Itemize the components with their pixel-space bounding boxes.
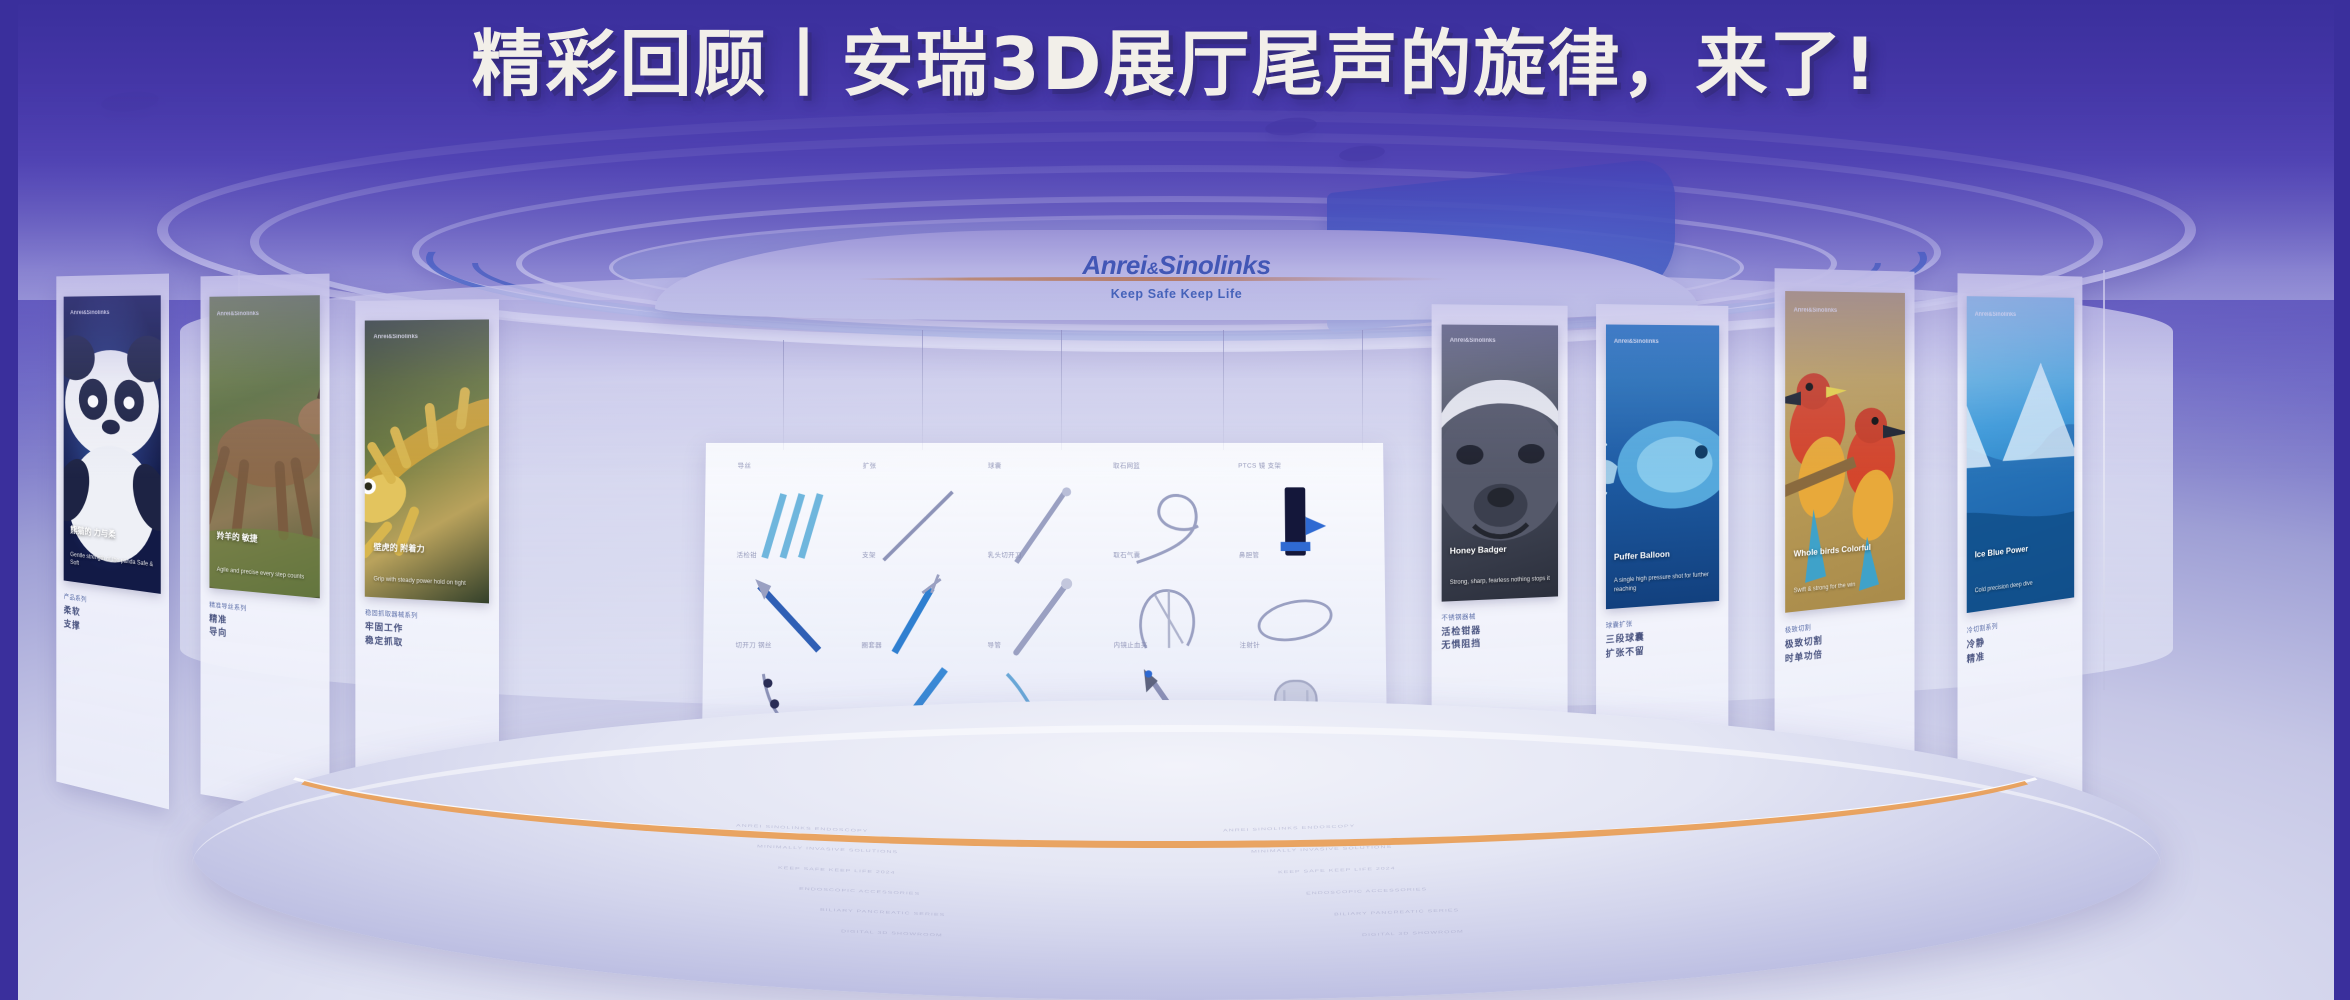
poster-brand: Anrei&Sinolinks [1613,339,1658,345]
poster-brand: Anrei&Sinolinks [217,311,259,317]
left-edge-band [0,0,18,1000]
product-device-icon [1123,480,1215,534]
hanging-wire [783,340,784,450]
brand-tagline: Keep Safe Keep Life [655,288,1698,301]
product-cell-label: 取石气囊 [1113,549,1140,559]
product-device-icon [746,570,838,625]
product-device-icon [997,570,1089,625]
brand-name-main: Anrei [1082,250,1146,280]
poster-artwork: Anrei&Sinolinks羚羊的 敏捷Agile and precise e… [209,295,320,598]
product-cell[interactable]: 取石网篮 [1108,458,1232,545]
product-cell[interactable]: 扩张 [857,458,981,545]
product-device-icon [1249,570,1341,625]
product-device-icon [1248,480,1340,534]
product-device-icon [872,480,964,534]
wall-seam-right [2103,270,2105,690]
product-cell[interactable]: 导丝 [732,458,856,545]
brand-swoosh-icon [853,277,1499,281]
showroom-scene: Anrei&Sinolinks Keep Safe Keep Life 导丝扩张… [18,0,2335,1000]
product-cell[interactable]: 乳头切开刀 [982,547,1106,635]
brand-name: Anrei&Sinolinks [655,252,1698,278]
product-cell-label: 球囊 [988,459,1002,469]
product-device-icon [1123,570,1215,625]
product-device-icon [997,480,1088,534]
poster-artwork: Anrei&SinolinksWhole birds ColorfulSwift… [1785,291,1905,612]
poster-brand: Anrei&Sinolinks [1793,308,1836,314]
page-title: 精彩回顾丨安瑞3D展厅尾声的旋律，来了! [0,26,2350,104]
product-device-icon [871,570,963,625]
hanging-wire [1223,330,1224,450]
product-cell[interactable]: PTCS 镜 支架 [1233,458,1357,545]
hanging-wire [1362,330,1363,450]
hanging-wire [1061,330,1062,450]
product-cell-label: 乳头切开刀 [988,549,1022,559]
product-cell[interactable]: 取石气囊 [1108,547,1232,635]
poster-body: 产品系列柔软支撑 [64,591,161,792]
product-cell-label: 鼻胆管 [1239,549,1259,559]
product-cell[interactable]: 鼻胆管 [1234,547,1359,635]
product-device-icon [747,480,839,534]
product-cell-label: 支架 [862,549,876,559]
poster-caption: 不锈钢器械 [1442,606,1559,622]
product-cell-label: 导丝 [737,459,751,469]
poster-brand: Anrei&Sinolinks [70,310,109,316]
poster-artwork: Anrei&SinolinksHoney BadgerStrong, sharp… [1442,324,1559,602]
poster-brand: Anrei&Sinolinks [1975,312,2016,318]
product-cell-label: PTCS 镜 支架 [1238,459,1281,469]
brand-name-second: Sinolinks [1159,250,1271,280]
poster-artwork: Anrei&Sinolinks壁虎的 附着力Grip with steady p… [365,319,489,603]
poster-panel-panda[interactable]: Anrei&Sinolinks熊猫的 力与柔Gentle strength of… [56,274,168,810]
product-cell-label: 活检钳 [736,549,756,559]
poster-artwork: Anrei&SinolinksPuffer BalloonA single hi… [1605,324,1719,609]
poster-artwork: Anrei&Sinolinks熊猫的 力与柔Gentle strength of… [64,295,161,594]
stage-rail-orange [238,648,2092,848]
brand-name-amp: & [1147,259,1159,278]
product-cell-label: 取石网篮 [1113,459,1140,469]
hanging-wire [922,330,923,450]
product-cell[interactable]: 支架 [856,547,980,635]
poster-brand: Anrei&Sinolinks [373,334,417,340]
product-cell-label: 扩张 [863,459,877,469]
brand-logo: Anrei&Sinolinks Keep Safe Keep Life [655,252,1698,301]
poster-artwork: Anrei&SinolinksIce Blue PowerCold precis… [1967,296,2074,613]
product-cell[interactable]: 球囊 [983,458,1107,545]
poster-brand: Anrei&Sinolinks [1450,338,1496,344]
product-cell[interactable]: 活检钳 [731,547,856,635]
right-edge-band [2334,0,2350,1000]
exhibition-hall-banner: Anrei&Sinolinks Keep Safe Keep Life 导丝扩张… [0,0,2350,1000]
